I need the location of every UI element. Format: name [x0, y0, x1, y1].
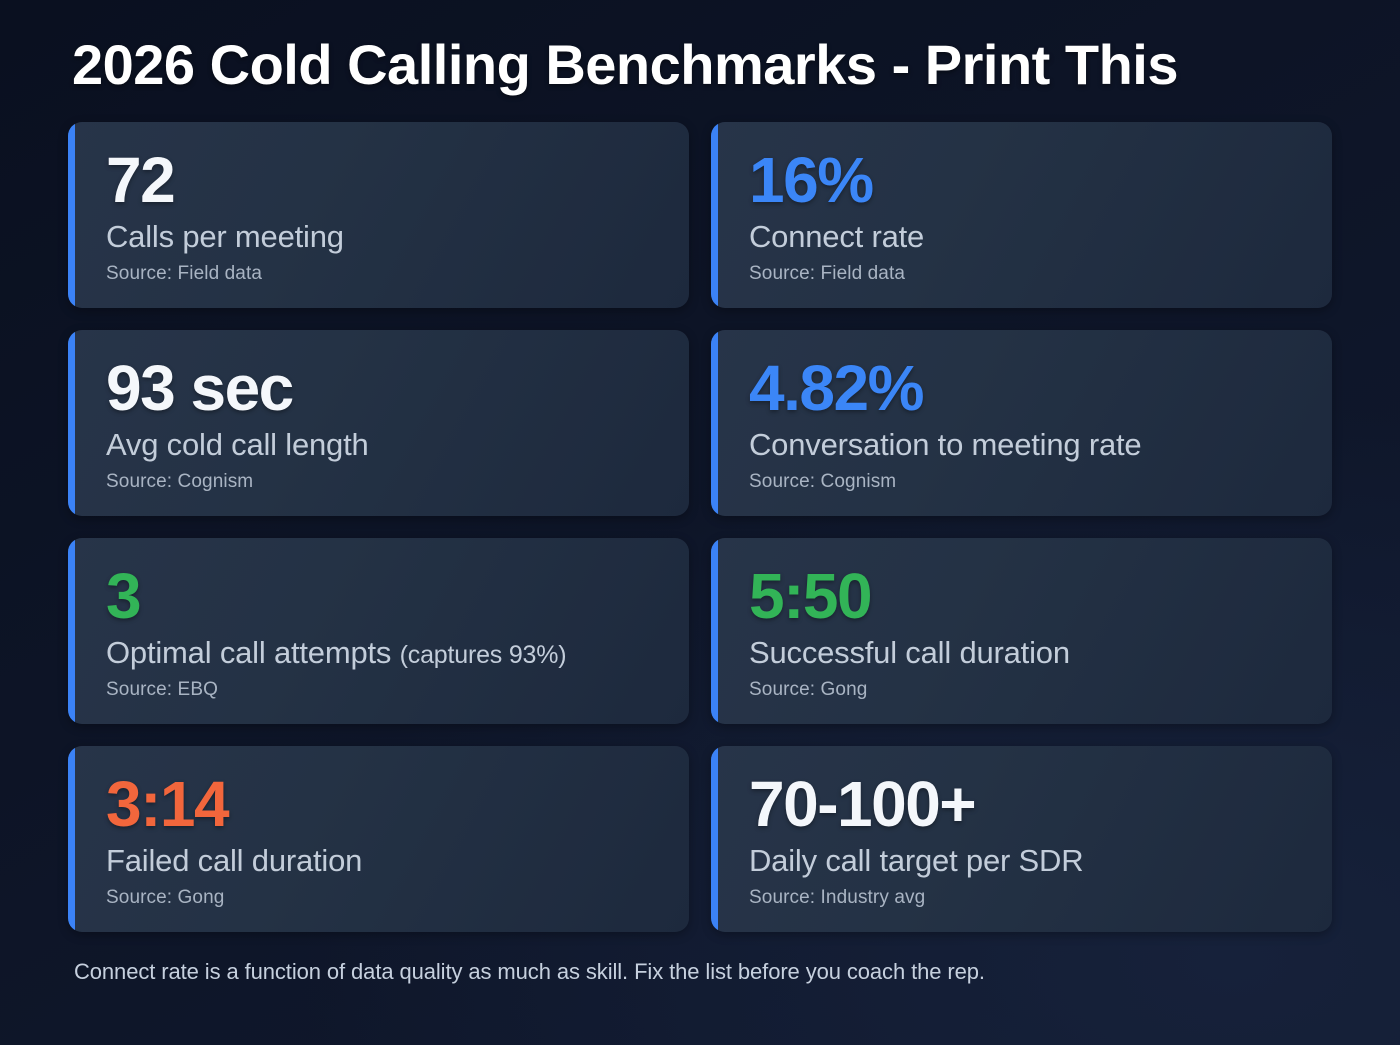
metric-source: Source: Cognism — [749, 471, 1332, 493]
metric-label-text: Successful call duration — [749, 635, 1070, 670]
footer-note: Connect rate is a function of data quali… — [68, 959, 1332, 985]
benchmark-card: 93 sec Avg cold call length Source: Cogn… — [68, 330, 689, 516]
metric-value: 93 sec — [106, 356, 689, 421]
metric-value: 70-100+ — [749, 772, 1332, 837]
metric-source: Source: Field data — [749, 263, 1332, 285]
metric-value: 72 — [106, 148, 689, 213]
metric-label: Daily call target per SDR — [749, 843, 1332, 880]
metric-label: Successful call duration — [749, 635, 1332, 672]
metric-label: Connect rate — [749, 219, 1332, 256]
benchmark-card: 16% Connect rate Source: Field data — [711, 122, 1332, 308]
metric-label-suffix: (captures 93%) — [400, 641, 567, 669]
metric-label: Calls per meeting — [106, 219, 689, 256]
metric-source: Source: Cognism — [106, 471, 689, 493]
metric-label: Avg cold call length — [106, 427, 689, 464]
metric-label-text: Conversation to meeting rate — [749, 427, 1141, 462]
benchmark-card-grid: 72 Calls per meeting Source: Field data … — [68, 122, 1332, 932]
benchmark-card: 3 Optimal call attempts (captures 93%) S… — [68, 538, 689, 724]
benchmark-card: 70-100+ Daily call target per SDR Source… — [711, 746, 1332, 932]
metric-label-text: Calls per meeting — [106, 219, 344, 254]
metric-source: Source: Field data — [106, 263, 689, 285]
benchmark-card: 72 Calls per meeting Source: Field data — [68, 122, 689, 308]
metric-source: Source: EBQ — [106, 679, 689, 701]
metric-label: Optimal call attempts (captures 93%) — [106, 635, 689, 672]
benchmark-infographic: 2026 Cold Calling Benchmarks - Print Thi… — [0, 0, 1400, 1045]
benchmark-card: 5:50 Successful call duration Source: Go… — [711, 538, 1332, 724]
metric-source: Source: Gong — [106, 887, 689, 909]
page-title: 2026 Cold Calling Benchmarks - Print Thi… — [68, 30, 1332, 100]
metric-value: 3:14 — [106, 772, 689, 837]
benchmark-card: 4.82% Conversation to meeting rate Sourc… — [711, 330, 1332, 516]
metric-source: Source: Gong — [749, 679, 1332, 701]
metric-label-text: Optimal call attempts — [106, 635, 391, 670]
benchmark-card: 3:14 Failed call duration Source: Gong — [68, 746, 689, 932]
metric-label: Failed call duration — [106, 843, 689, 880]
metric-value: 16% — [749, 148, 1332, 213]
metric-label-text: Avg cold call length — [106, 427, 369, 462]
metric-label-text: Connect rate — [749, 219, 924, 254]
metric-label: Conversation to meeting rate — [749, 427, 1332, 464]
metric-label-text: Failed call duration — [106, 843, 362, 878]
metric-value: 5:50 — [749, 564, 1332, 629]
metric-source: Source: Industry avg — [749, 887, 1332, 909]
metric-value: 3 — [106, 564, 689, 629]
metric-label-text: Daily call target per SDR — [749, 843, 1083, 878]
metric-value: 4.82% — [749, 356, 1332, 421]
